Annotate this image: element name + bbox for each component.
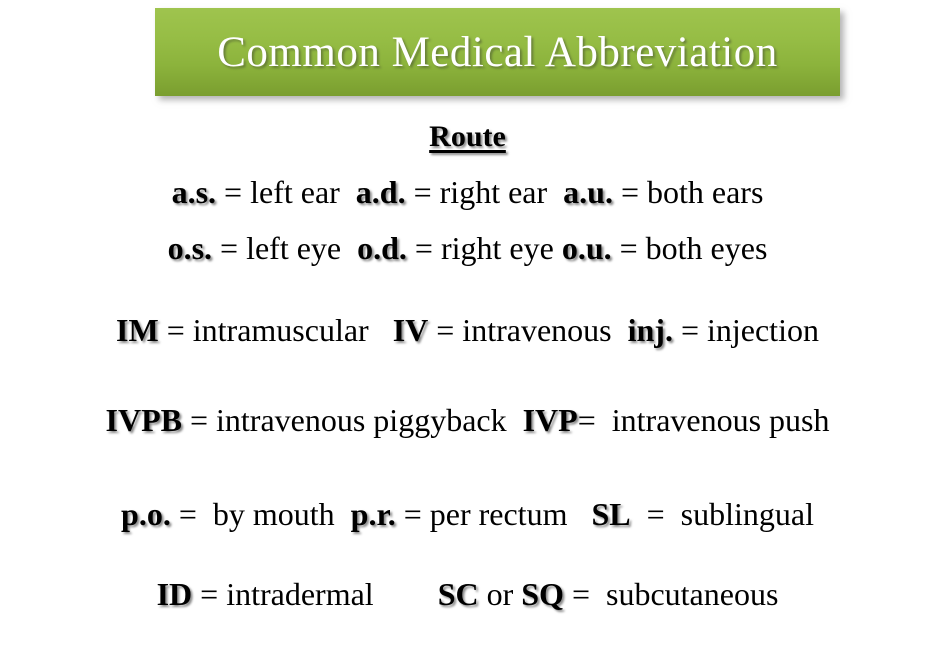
abbreviation-definition: left eye xyxy=(246,230,341,266)
abbreviation-spacer xyxy=(341,230,357,266)
abbreviation-separator: = xyxy=(578,402,612,438)
abbreviation-spacer xyxy=(612,312,628,348)
abbreviation-term: a.u. xyxy=(563,174,613,210)
abbreviation-separator: = xyxy=(612,230,646,266)
abbreviation-term: SQ xyxy=(521,576,564,612)
abbreviation-definition: left ear xyxy=(250,174,340,210)
abbreviation-term: p.o. xyxy=(121,496,171,532)
abbreviation-definition: intradermal xyxy=(226,576,373,612)
abbreviation-definition: subcutaneous xyxy=(606,576,778,612)
abbreviation-separator: = xyxy=(159,312,193,348)
abbreviation-term: a.d. xyxy=(356,174,406,210)
abbreviation-definition: both ears xyxy=(647,174,763,210)
abbreviation-separator: = xyxy=(673,312,707,348)
line-injection-routes: IM = intramuscular IV = intravenous inj.… xyxy=(0,314,935,346)
abbreviation-term: IM xyxy=(116,312,159,348)
abbreviation-definition: intravenous push xyxy=(612,402,830,438)
abbreviation-term: SC xyxy=(438,576,479,612)
line-dermal-subcut: ID = intradermal SC or SQ = subcutaneous xyxy=(0,578,935,610)
abbreviation-definition: intravenous piggyback xyxy=(216,402,507,438)
abbreviation-separator: = xyxy=(182,402,216,438)
section-heading-route: Route xyxy=(0,120,935,154)
title-banner: Common Medical Abbreviation xyxy=(155,8,840,96)
abbreviation-spacer xyxy=(507,402,523,438)
abbreviation-term: o.s. xyxy=(168,230,212,266)
abbreviation-separator: = xyxy=(613,174,647,210)
line-iv-types: IVPB = intravenous piggyback IVP= intrav… xyxy=(0,404,935,436)
abbreviation-definition: both eyes xyxy=(646,230,768,266)
abbreviation-term: a.s. xyxy=(172,174,216,210)
abbreviation-term: p.r. xyxy=(351,496,396,532)
abbreviation-separator: = xyxy=(396,496,430,532)
abbreviation-separator: = xyxy=(631,496,681,532)
abbreviation-definition: injection xyxy=(707,312,819,348)
abbreviation-term: IVP xyxy=(523,402,578,438)
abbreviation-line-list: a.s. = left ear a.d. = right ear a.u. = … xyxy=(0,176,935,610)
abbreviation-separator: = xyxy=(407,230,441,266)
abbreviation-term: IVPB xyxy=(106,402,182,438)
abbreviation-definition: sublingual xyxy=(681,496,814,532)
line-eyes: o.s. = left eye o.d. = right eye o.u. = … xyxy=(0,232,935,264)
abbreviation-separator: = xyxy=(406,174,440,210)
page-title: Common Medical Abbreviation xyxy=(217,31,777,74)
abbreviation-definition: by mouth xyxy=(213,496,335,532)
abbreviation-definition: right eye xyxy=(441,230,554,266)
abbreviation-term: o.u. xyxy=(562,230,612,266)
abbreviation-term: SL xyxy=(591,496,630,532)
abbreviation-separator: = xyxy=(212,230,246,266)
abbreviation-separator: or xyxy=(479,576,522,612)
abbreviation-definition: per rectum xyxy=(430,496,568,532)
abbreviation-content: Route a.s. = left ear a.d. = right ear a… xyxy=(0,120,935,610)
abbreviation-separator: = xyxy=(564,576,606,612)
abbreviation-separator: = xyxy=(171,496,213,532)
abbreviation-term: IV xyxy=(393,312,429,348)
abbreviation-term: inj. xyxy=(628,312,673,348)
abbreviation-separator: = xyxy=(216,174,250,210)
abbreviation-spacer xyxy=(340,174,356,210)
abbreviation-spacer xyxy=(374,576,438,612)
line-oral-rectal: p.o. = by mouth p.r. = per rectum SL = s… xyxy=(0,498,935,530)
abbreviation-term: o.d. xyxy=(357,230,407,266)
abbreviation-spacer xyxy=(369,312,393,348)
abbreviation-definition: right ear xyxy=(440,174,548,210)
abbreviation-spacer xyxy=(554,230,562,266)
abbreviation-spacer xyxy=(547,174,563,210)
abbreviation-definition: intravenous xyxy=(462,312,611,348)
abbreviation-spacer xyxy=(335,496,351,532)
abbreviation-spacer xyxy=(567,496,591,532)
line-ears: a.s. = left ear a.d. = right ear a.u. = … xyxy=(0,176,935,208)
abbreviation-separator: = xyxy=(428,312,462,348)
abbreviation-definition: intramuscular xyxy=(193,312,369,348)
abbreviation-term: ID xyxy=(157,576,193,612)
abbreviation-separator: = xyxy=(192,576,226,612)
